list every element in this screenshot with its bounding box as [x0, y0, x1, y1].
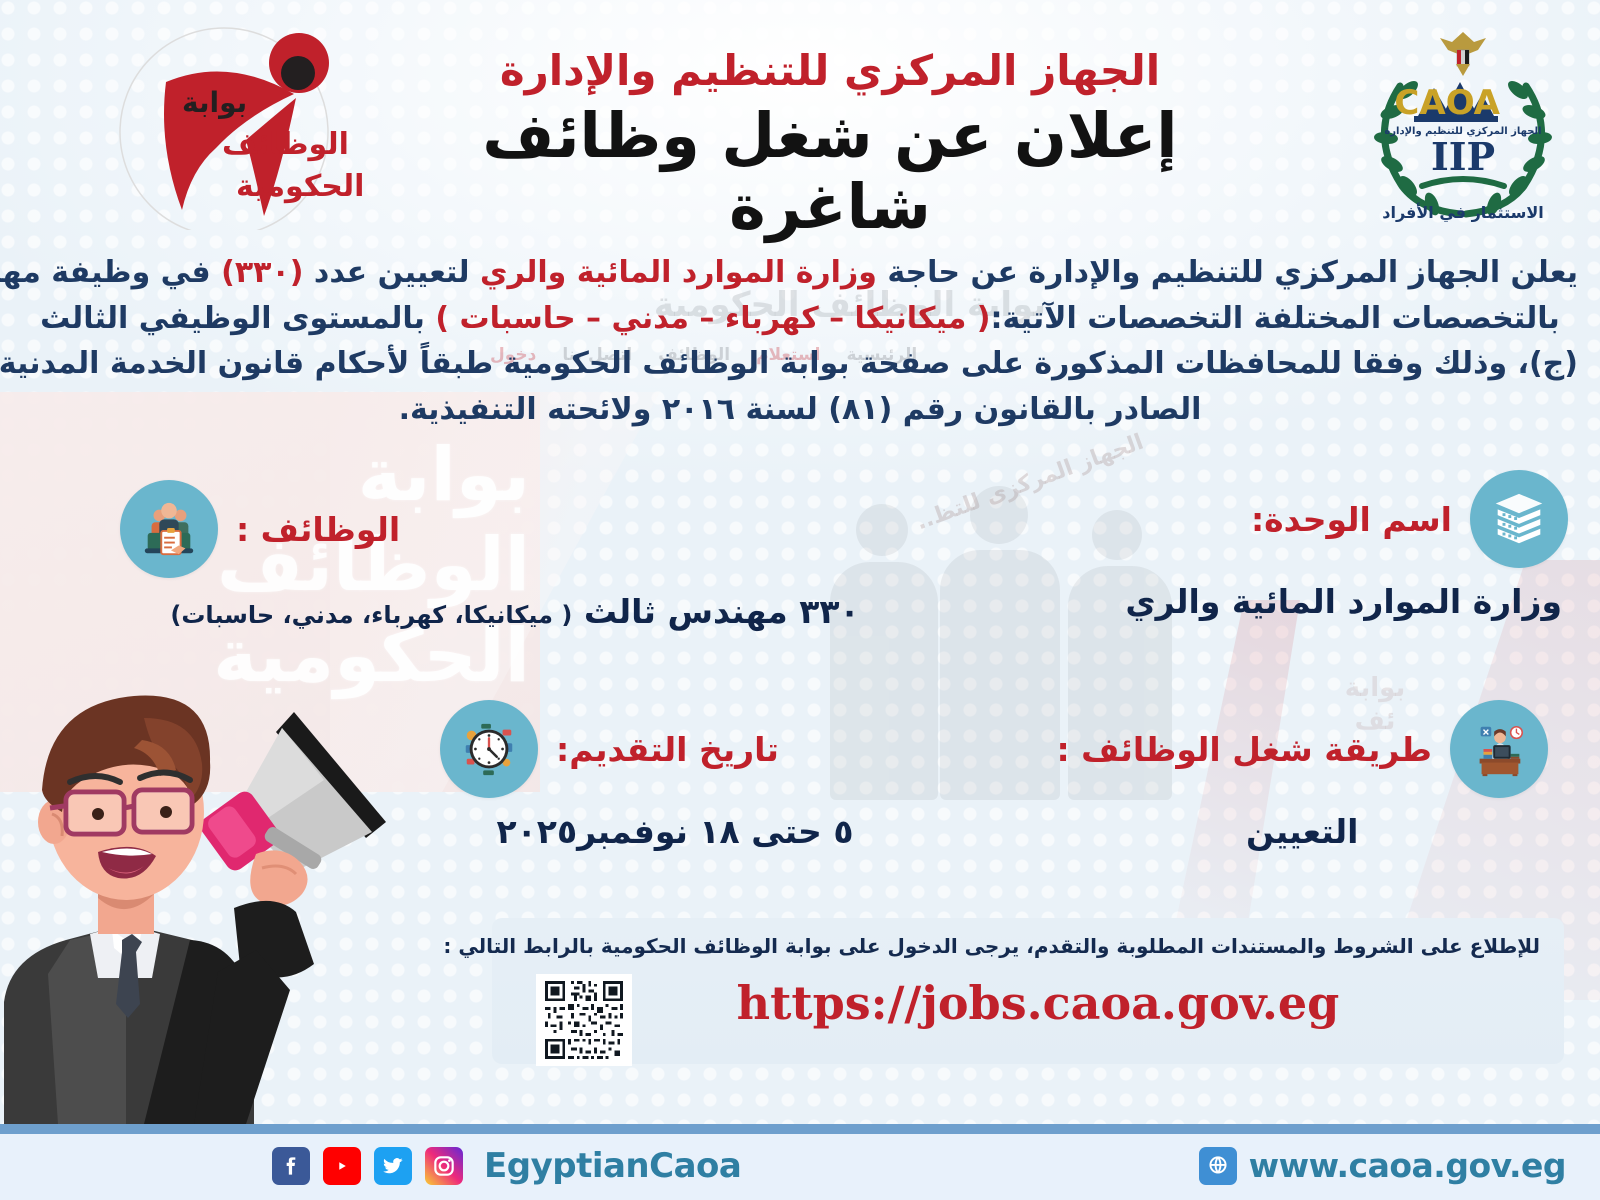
government-jobs-portal-logo: بوابة الوظائف الحكومية — [96, 20, 376, 230]
svg-text:CAOA: CAOA — [1394, 83, 1500, 123]
svg-text:الوظائف: الوظائف — [222, 127, 349, 162]
footer-divider — [0, 1124, 1600, 1134]
social-links: EgyptianCaoa — [272, 1146, 741, 1186]
svg-text:الاستثمار في الأفراد: الاستثمار في الأفراد — [1382, 203, 1543, 223]
application-url[interactable]: https://jobs.caoa.gov.eg — [692, 976, 1384, 1030]
svg-text:IIP: IIP — [1431, 134, 1495, 179]
card-jobs-value: ٣٣٠ مهندس ثالث ( ميكانيكا، كهرباء، مدني،… — [120, 592, 910, 631]
website-url[interactable]: www.caoa.gov.eg — [1249, 1146, 1566, 1185]
card-unit-label: اسم الوحدة: — [1251, 500, 1452, 539]
organization-name: الجهاز المركزي للتنظيم والإدارة — [380, 46, 1280, 96]
eagle-emblem — [1440, 32, 1486, 76]
poster-canvas: بوابة الوظائف الحكومية بوابة الوظائف الح… — [0, 0, 1600, 1200]
card-jobs-specialties: ( ميكانيكا، كهرباء، مدني، حاسبات) — [170, 601, 572, 629]
card-application-date: تاريخ التقديم: — [440, 700, 910, 851]
announcement-body: يعلن الجهاز المركزي للتنظيم والإدارة عن … — [22, 250, 1578, 432]
desk-worker-icon — [1450, 700, 1548, 798]
megaphone-icon — [197, 712, 386, 874]
announcement-title: إعلان عن شغل وظائف شاغرة — [380, 100, 1280, 243]
globe-icon — [1199, 1147, 1237, 1185]
clock-icon — [440, 700, 538, 798]
qr-code — [536, 974, 632, 1066]
social-handle[interactable]: EgyptianCaoa — [484, 1146, 741, 1186]
card-jobs-count-title: ٣٣٠ مهندس ثالث — [584, 592, 860, 631]
card-date-label: تاريخ التقديم: — [556, 730, 779, 769]
application-link-box: للإطلاع على الشروط والمستندات المطلوبة و… — [492, 918, 1564, 1064]
caoa-iip-logo: CAOA الجهاز المركزي للتنظيم والإدارة IIP… — [1348, 24, 1578, 224]
svg-text:بوابة: بوابة — [182, 86, 247, 119]
link-box-note: للإطلاع على الشروط والمستندات المطلوبة و… — [516, 934, 1540, 958]
poster-header: بوابة الوظائف الحكومية الجهاز المركزي لل… — [0, 0, 1600, 238]
building-icon — [1470, 470, 1568, 568]
youtube-icon[interactable] — [323, 1147, 361, 1185]
card-method-value: التعيين — [1056, 812, 1548, 851]
title-block: الجهاز المركزي للتنظيم والإدارة إعلان عن… — [380, 46, 1280, 242]
card-unit-name: اسم الوحدة: وزارة الموارد المائية والري — [1125, 470, 1568, 621]
card-method-label: طريقة شغل الوظائف : — [1056, 730, 1432, 769]
card-jobs-label: الوظائف : — [236, 510, 400, 549]
team-clipboard-icon — [120, 480, 218, 578]
website-link[interactable]: www.caoa.gov.eg — [1199, 1146, 1566, 1185]
card-employment-method: طريقة شغل الوظائف : التعيين — [1056, 700, 1548, 851]
body-line-1: يعلن الجهاز المركزي للتنظيم والإدارة عن … — [22, 250, 1578, 296]
card-unit-value: وزارة الموارد المائية والري — [1125, 582, 1568, 621]
instagram-icon[interactable] — [425, 1147, 463, 1185]
man-with-megaphone-illustration — [0, 672, 414, 1124]
svg-text:الحكومية: الحكومية — [236, 169, 364, 204]
facebook-icon[interactable] — [272, 1147, 310, 1185]
body-line-2: بالتخصصات المختلفة التخصصات الآتية:( ميك… — [22, 296, 1578, 342]
card-jobs: الوظائف : ٣٣٠ مهندس ثالث ( ميكانيكا، كهر… — [120, 480, 910, 631]
body-line-4: الصادر بالقانون رقم (٨١) لسنة ٢٠١٦ ولائح… — [22, 387, 1578, 433]
twitter-icon[interactable] — [374, 1147, 412, 1185]
body-line-3: (ج)، وذلك وفقا للمحافظات المذكورة على صف… — [22, 341, 1578, 387]
card-date-value: ٥ حتى ١٨ نوفمبر٢٠٢٥ — [440, 812, 910, 851]
